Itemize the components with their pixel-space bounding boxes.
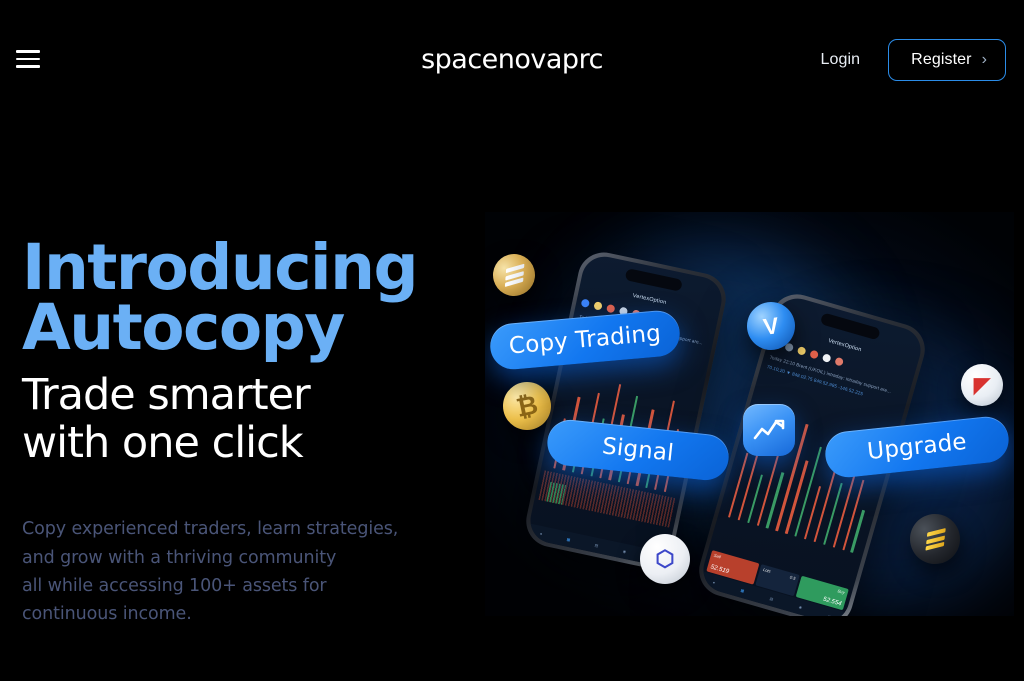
solana-glyph	[925, 528, 945, 551]
nav-item: ◉	[622, 548, 626, 554]
register-button[interactable]: Register ›	[888, 39, 1006, 81]
hero-copy: Introducing Autocopy Trade smarter with …	[22, 238, 492, 629]
nav-item-more[interactable]: ⋯	[827, 612, 832, 616]
sell-label: Sell	[713, 553, 721, 560]
hero-paragraph-line: continuous income.	[22, 600, 492, 628]
app-brand: VertexOption	[828, 338, 863, 353]
lots-label: Lots	[762, 567, 771, 574]
nav-item-chart[interactable]: ▦	[740, 587, 745, 593]
solana-coin-dark-icon	[905, 509, 966, 570]
hero-subheadline-line: Trade smarter	[22, 371, 492, 419]
asset-dot	[606, 304, 615, 313]
hero-subheadline-line: with one click	[22, 419, 492, 467]
hero-headline: Introducing Autocopy	[22, 238, 492, 359]
nav-item-market[interactable]: ●	[712, 580, 715, 584]
nav-item: ▤	[594, 543, 599, 549]
nav-item-news[interactable]: ◉	[798, 604, 803, 610]
asset-dot	[593, 301, 602, 310]
nav-item: ●	[540, 531, 543, 535]
chainlink-coin-icon: ⬡	[640, 534, 690, 584]
asset-dot	[834, 357, 844, 367]
hero-subheadline: Trade smarter with one click	[22, 371, 492, 467]
asset-dot	[822, 353, 832, 363]
header-nav: Login Register ›	[813, 39, 1006, 81]
asset-dot	[581, 298, 590, 307]
landing-page: spacenovaprc Login Register › Introducin…	[0, 0, 1024, 681]
register-button-label: Register	[911, 51, 971, 69]
nav-item-active: ▦	[566, 537, 571, 543]
hero-headline-line: Introducing	[22, 238, 492, 298]
hero-paragraph: Copy experienced traders, learn strategi…	[22, 515, 492, 628]
phone-mockup-back: VertexOption Today 22:10 Brent (UKOIL) i…	[521, 248, 730, 573]
chart-trend-icon	[743, 404, 795, 456]
lots-value: 0.5	[789, 575, 796, 581]
solana-coin-icon	[488, 249, 540, 301]
solana-glyph	[504, 263, 524, 286]
login-link[interactable]: Login	[813, 45, 869, 75]
app-brand: VertexOption	[632, 293, 667, 306]
hero-paragraph-line: and grow with a thriving community	[22, 544, 492, 572]
hero-paragraph-line: Copy experienced traders, learn strategi…	[22, 515, 492, 543]
asset-dot	[809, 350, 819, 360]
buy-label: Buy	[837, 588, 845, 595]
hero-artwork: VertexOption Today 22:10 Brent (UKOIL) i…	[485, 212, 1014, 616]
tron-coin-icon: ◤	[961, 364, 1003, 406]
hero-paragraph-line: all while accessing 100+ assets for	[22, 572, 492, 600]
phone-screen: VertexOption Today 22:10 Brent (UKOIL) i…	[526, 252, 726, 567]
site-header: spacenovaprc Login Register ›	[0, 0, 1024, 120]
nav-item-portfolio[interactable]: ▤	[769, 596, 774, 602]
chevron-right-icon: ›	[982, 51, 987, 69]
asset-dot	[797, 346, 807, 356]
hero-headline-line: Autocopy	[22, 298, 492, 358]
